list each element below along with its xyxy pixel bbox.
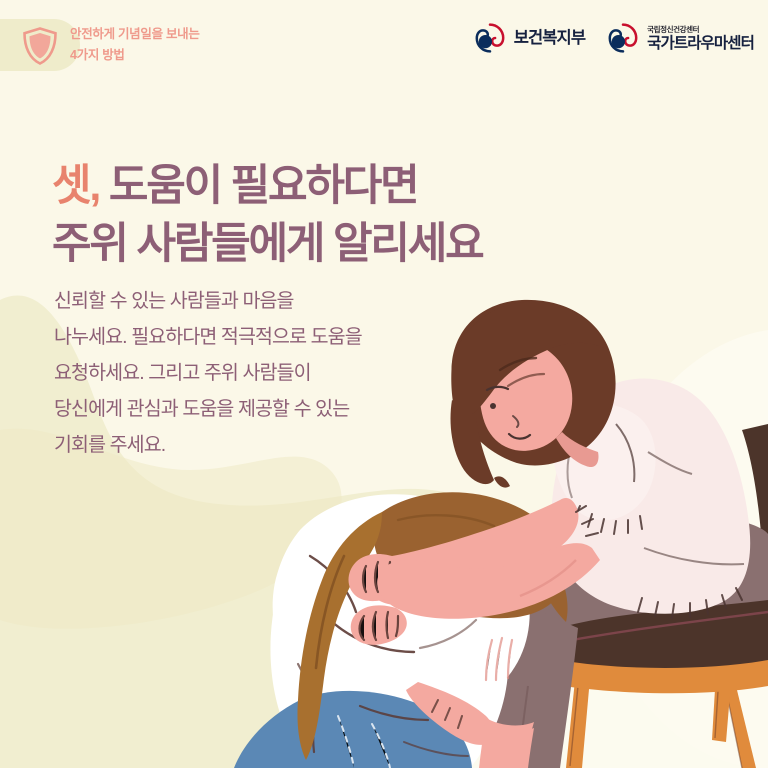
body-line-2: 나누세요. 필요하다면 적극적으로 도움을 [54, 319, 362, 355]
page-title: 셋, 도움이 필요하다면 주위 사람들에게 알리세요 [52, 157, 482, 273]
logo-trauma-center: 국립정신건강센터 국가트라우마센터 [607, 22, 754, 54]
headline-line1-rest: 도움이 필요하다면 [99, 162, 417, 210]
logo-mohw-name: 보건복지부 [514, 30, 585, 47]
body-line-4: 당신에게 관심과 도움을 제공할 수 있는 [54, 391, 362, 427]
body-line-3: 요청하세요. 그리고 주위 사람들이 [54, 355, 362, 391]
seated-woman-head [451, 300, 616, 488]
headline-line1: 셋, 도움이 필요하다면 [52, 162, 417, 210]
body-line-1: 신뢰할 수 있는 사람들과 마음을 [54, 283, 362, 319]
campaign-badge-text: 안전하게 기념일을 보내는 4가지 방법 [70, 24, 200, 66]
logo-mohw: 보건복지부 [474, 22, 585, 54]
logo-trauma-center-sub: 국립정신건강센터 [647, 25, 754, 34]
korea-government-emblem-icon [607, 22, 639, 54]
body-copy: 신뢰할 수 있는 사람들과 마음을 나누세요. 필요하다면 적극적으로 도움을 … [54, 283, 362, 463]
logo-group: 보건복지부 국립정신건강센터 국가트라우마센터 [474, 22, 754, 54]
logo-trauma-center-words: 국립정신건강센터 국가트라우마센터 [647, 25, 754, 52]
campaign-badge-line1: 안전하게 기념일을 보내는 [70, 27, 200, 41]
header: 안전하게 기념일을 보내는 4가지 방법 보건복지부 [0, 0, 768, 88]
korea-government-emblem-icon [474, 22, 506, 54]
headline-line2: 주위 사람들에게 알리세요 [52, 220, 482, 268]
headline-accent: 셋, [52, 162, 99, 210]
logo-trauma-center-name: 국가트라우마센터 [647, 35, 754, 52]
campaign-badge-line2: 4가지 방법 [70, 45, 200, 66]
poster-canvas: 안전하게 기념일을 보내는 4가지 방법 보건복지부 [0, 0, 768, 768]
body-line-5: 기회를 주세요. [54, 427, 362, 463]
logo-mohw-words: 보건복지부 [514, 30, 585, 47]
shield-icon [22, 27, 58, 65]
